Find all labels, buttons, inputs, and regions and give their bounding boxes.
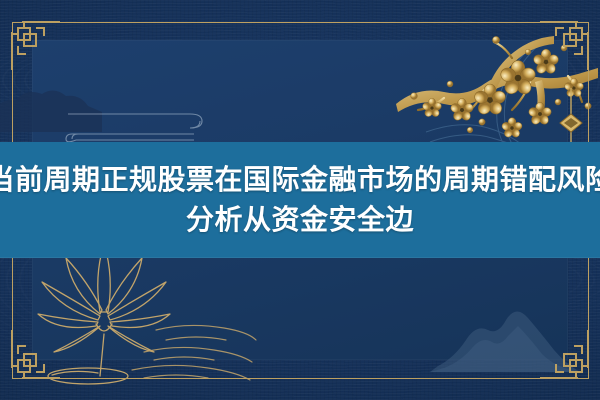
chinese-fret-corner-icon <box>536 326 592 382</box>
chinese-fret-corner-icon <box>8 326 64 382</box>
chinese-fret-corner-icon <box>536 18 592 74</box>
page-title-line-2: 分析从资金安全边 <box>186 200 414 240</box>
frame-line-bottom <box>12 378 588 379</box>
page-title-line-1: 当前周期正规股票在国际金融市场的周期错配风险 <box>0 160 600 200</box>
article-banner: 当前周期正规股票在国际金融市场的周期错配风险 分析从资金安全边 <box>0 0 600 400</box>
chinese-fret-corner-icon <box>8 18 64 74</box>
frame-line-top <box>12 22 588 23</box>
title-band: 当前周期正规股票在国际金融市场的周期错配风险 分析从资金安全边 <box>0 142 600 258</box>
